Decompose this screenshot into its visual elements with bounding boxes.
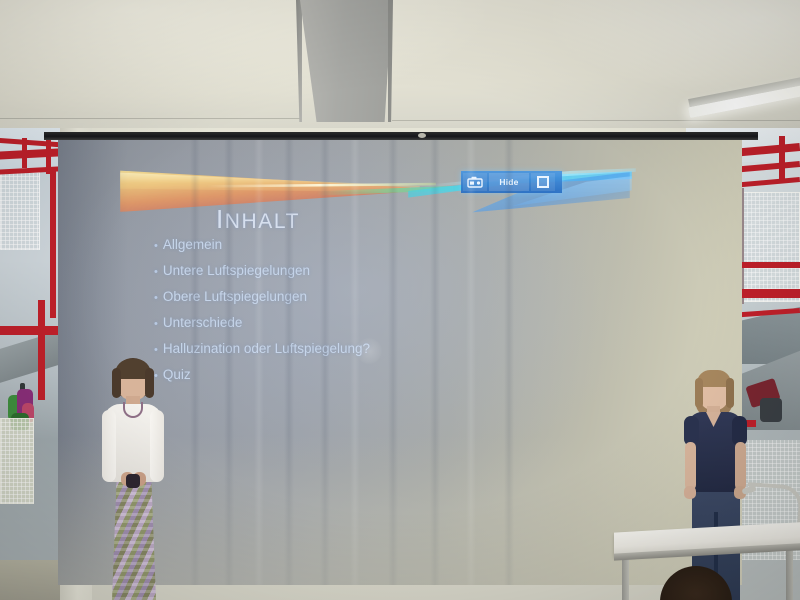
hair [112, 368, 121, 398]
hand [684, 486, 696, 499]
projection-screen-casing [44, 132, 758, 140]
cardigan-sleeve [150, 410, 164, 482]
hair [145, 368, 154, 398]
arm [685, 442, 696, 490]
red-railing [0, 326, 60, 335]
red-railing-post [22, 138, 27, 168]
cardigan-sleeve [102, 410, 116, 482]
lens-flare [356, 338, 382, 364]
red-railing-post [50, 168, 56, 318]
red-railing-post [779, 136, 785, 182]
safety-mesh-panel [0, 418, 34, 504]
red-railing-post [38, 300, 45, 400]
staircase [0, 330, 60, 384]
hair [726, 378, 734, 408]
ceiling-light-sheen [0, 0, 800, 132]
ceiling-seam [392, 120, 800, 121]
casing-knob [418, 133, 426, 138]
presenter-left [92, 358, 176, 600]
hair [695, 378, 703, 408]
wall-mount-box [760, 398, 782, 422]
ceiling-seam [0, 118, 300, 119]
floor [0, 560, 60, 600]
arm [735, 442, 746, 490]
table-leg [786, 546, 793, 600]
safety-mesh-panel [0, 172, 40, 250]
classroom-scene: Hide INHALT •Allgemein •Untere Luftspieg… [0, 0, 800, 600]
held-object [126, 474, 140, 488]
